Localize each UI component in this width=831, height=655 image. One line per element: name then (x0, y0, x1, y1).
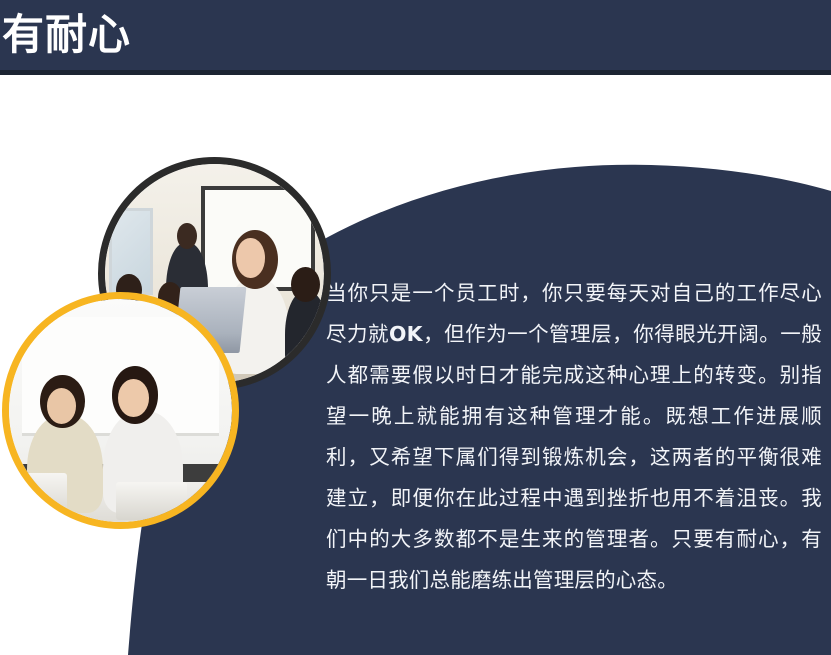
office-photo-clip (9, 299, 232, 522)
office-person-left-face (47, 388, 76, 424)
office-coworkers-photo (2, 292, 239, 529)
meeting-person-right (285, 291, 324, 370)
body-paragraph-emphasis: OK (389, 322, 423, 346)
office-monitor-right (116, 482, 187, 520)
body-paragraph-text-2: ，但作为一个管理层，你得眼光开阔。一般人都需要假以时日才能完成这种心理上的转变。… (326, 322, 822, 592)
meeting-person-right-head (291, 267, 319, 302)
office-scene (9, 299, 232, 522)
body-paragraph: 当你只是一个员工时，你只要每天对自己的工作尽心尽力就OK，但作为一个管理层，你得… (326, 273, 822, 601)
office-monitor-left (9, 473, 67, 518)
page-title: 有耐心 (2, 4, 131, 68)
slide-root: 有耐心 当你只是一个员工时，你只要每天对自己的工作尽心尽力就OK，但作为一个管理… (0, 0, 831, 655)
meeting-person-main-face (236, 238, 264, 277)
